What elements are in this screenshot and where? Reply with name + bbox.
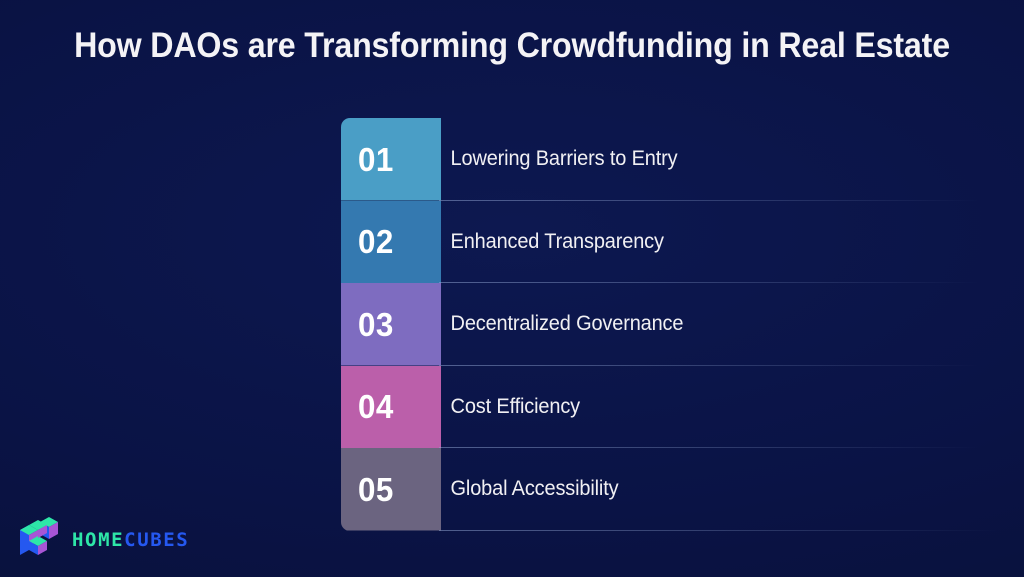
list-item[interactable]: 05 Global Accessibility [341,448,1001,531]
isometric-cube-logo-icon [18,517,60,563]
page-title: How DAOs are Transforming Crowdfunding i… [41,26,983,66]
list-item-number-chip: 01 [341,118,441,201]
list-item-number-chip: 02 [341,201,441,284]
list-item-label: Lowering Barriers to Entry [442,118,677,201]
list-item-label: Global Accessibility [442,448,618,531]
list-item-number-chip: 04 [341,366,441,449]
brand-logo-text: HOMECUBES [72,531,189,550]
list-item-divider [439,530,999,531]
list-item-number: 05 [358,473,394,506]
list-item-number-chip: 03 [341,283,441,366]
brand-logo[interactable]: HOMECUBES [18,517,189,563]
brand-name-secondary: CUBES [124,529,189,551]
list-item[interactable]: 01 Lowering Barriers to Entry [341,118,1001,201]
list-item[interactable]: 04 Cost Efficiency [341,366,1001,449]
list-item-label: Enhanced Transparency [442,201,664,284]
brand-name-primary: HOME [72,529,124,551]
list-item-number: 01 [358,143,394,176]
list-item-number: 02 [358,225,394,258]
list-item[interactable]: 03 Decentralized Governance [341,283,1001,366]
list-item-number: 04 [358,390,394,423]
list-item-label: Cost Efficiency [442,366,580,449]
numbered-list: 01 Lowering Barriers to Entry 02 Enhance… [341,118,1001,531]
list-item[interactable]: 02 Enhanced Transparency [341,201,1001,284]
list-item-number-chip: 05 [341,448,441,531]
list-item-number: 03 [358,308,394,341]
list-item-label: Decentralized Governance [442,283,683,366]
